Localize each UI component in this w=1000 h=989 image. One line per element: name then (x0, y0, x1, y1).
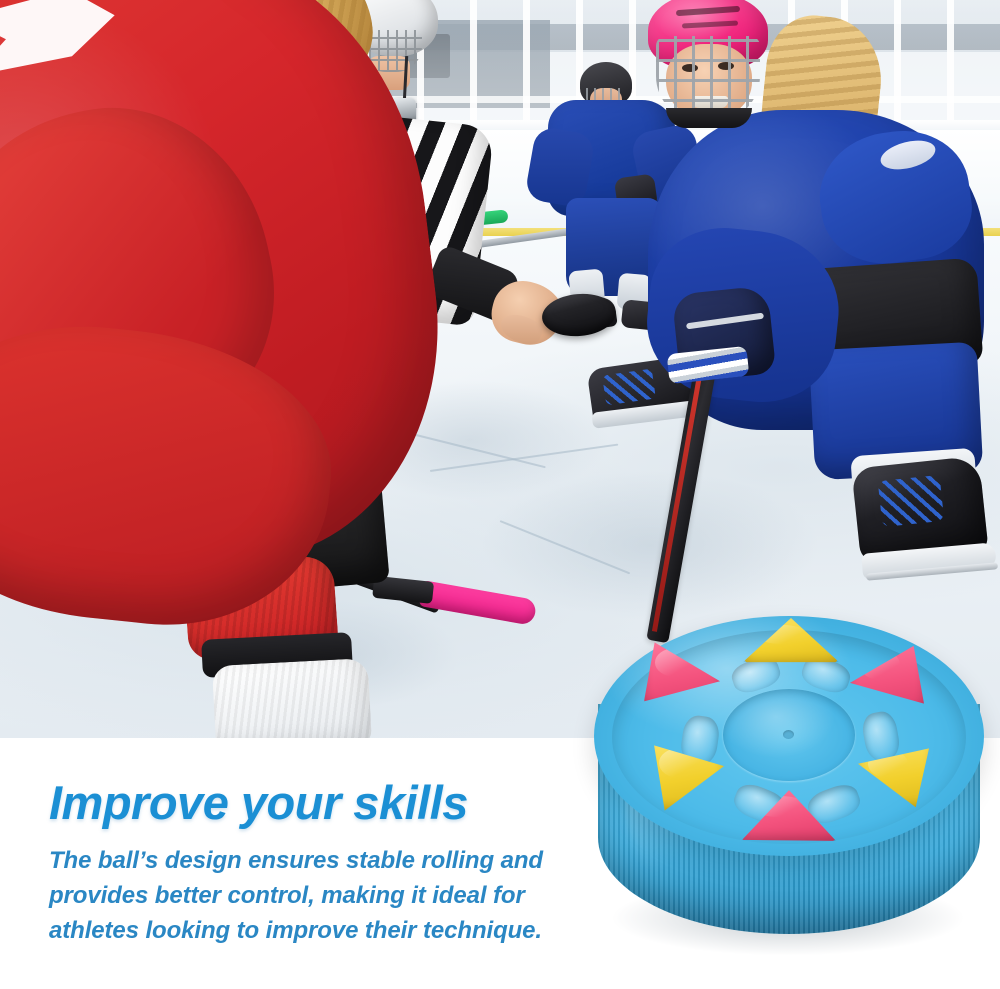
left-player-sock-white (212, 658, 372, 740)
subcopy-line-2: provides better control, making it ideal… (49, 878, 549, 913)
product-marketing-poster: Improve your skills The ball’s design en… (0, 0, 1000, 989)
subcopy: The ball’s design ensures stable rolling… (49, 843, 549, 948)
subcopy-line-3: athletes looking to improve their techni… (49, 913, 549, 948)
subcopy-line-1: The ball’s design ensures stable rolling… (49, 843, 549, 878)
right-player-chin-cup (666, 108, 752, 128)
right-player-skate-laces (878, 475, 944, 527)
ice-scuff (480, 470, 820, 620)
puck-center-mark (783, 730, 794, 739)
headline: Improve your skills (49, 775, 468, 830)
product-image (586, 612, 992, 974)
